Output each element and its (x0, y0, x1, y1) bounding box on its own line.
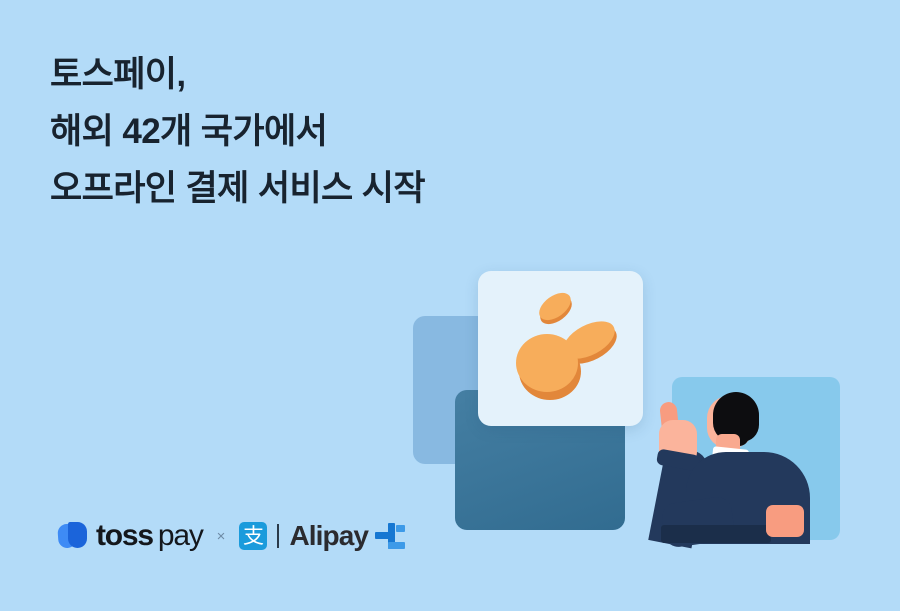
coin-large (516, 334, 578, 392)
alipay-plus-mark (375, 523, 405, 549)
promo-banner: 토스페이, 해외 42개 국가에서 오프라인 결제 서비스 시작 (0, 0, 900, 611)
alipay-plus-foot-bar (388, 542, 405, 549)
toss-pay-wordmark: pay (158, 519, 203, 553)
toss-logo-mark (58, 522, 88, 550)
alipay-wordmark: Alipay (289, 520, 368, 552)
partner-logo-row: toss pay × 支 Alipay (58, 516, 405, 556)
alipay-plus-top-bar (396, 525, 405, 532)
toss-wordmark: toss (96, 519, 153, 553)
person-right-hand (766, 505, 804, 537)
toss-mark-shape-dark (68, 522, 87, 548)
desk-surface (661, 525, 771, 543)
logo-divider (277, 524, 279, 548)
alipay-icon: 支 (239, 522, 267, 550)
partnership-separator: × (217, 528, 226, 545)
